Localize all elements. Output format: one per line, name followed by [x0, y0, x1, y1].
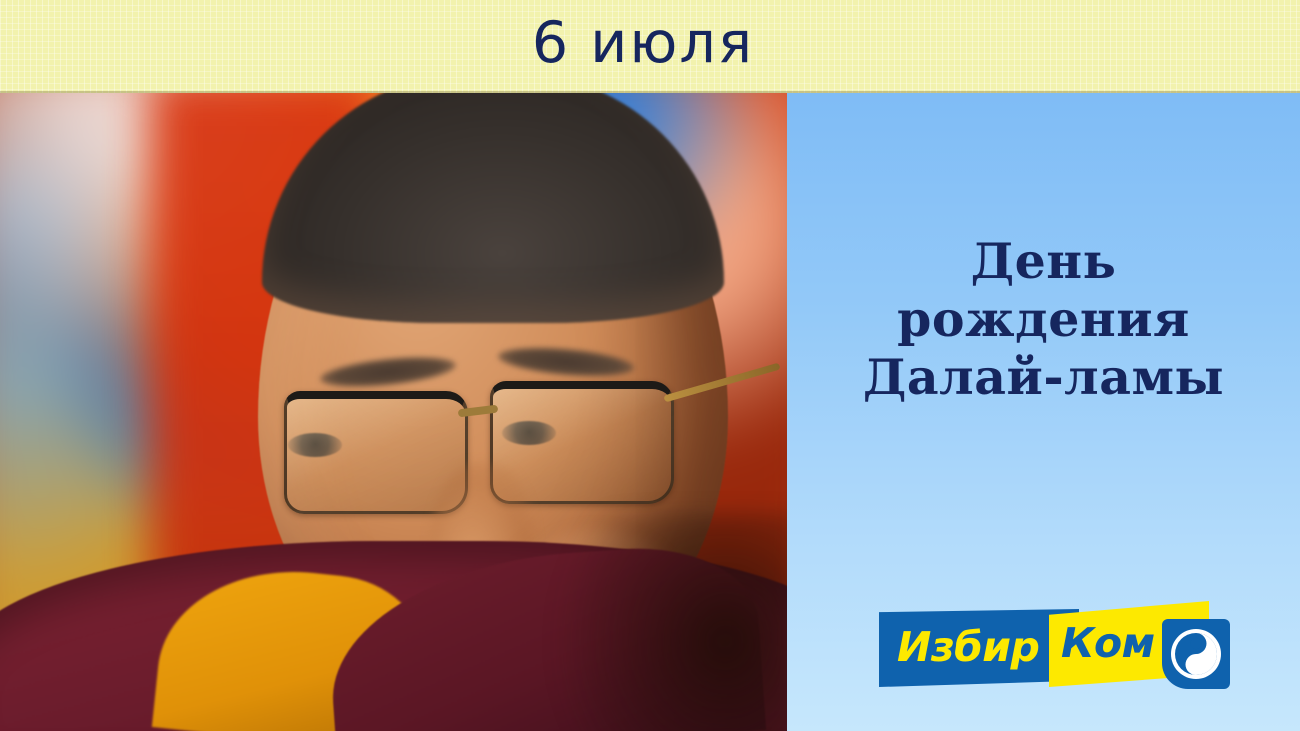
swirl-circle-icon [1162, 619, 1230, 689]
event-title-line-1: День [787, 233, 1300, 291]
logo-badge [1162, 619, 1230, 689]
page-title: 6 июля [532, 15, 754, 72]
header-band: 6 июля [0, 0, 1300, 93]
event-title-line-2: рождения [787, 291, 1300, 349]
slide-root: 6 июля [0, 0, 1300, 731]
event-title: День рождения Далай-ламы [787, 233, 1300, 406]
portrait-photo [0, 93, 787, 731]
logo-text-kom: Ком [1061, 623, 1155, 664]
event-title-line-3: Далай-ламы [787, 349, 1300, 407]
info-panel: День рождения Далай-ламы Избир Ком [787, 93, 1300, 731]
photo-right-shadow [557, 513, 787, 731]
logo-text-izbir: Избир [897, 627, 1039, 668]
hair-shape [262, 93, 724, 323]
izbirkom-logo[interactable]: Избир Ком [879, 601, 1229, 706]
